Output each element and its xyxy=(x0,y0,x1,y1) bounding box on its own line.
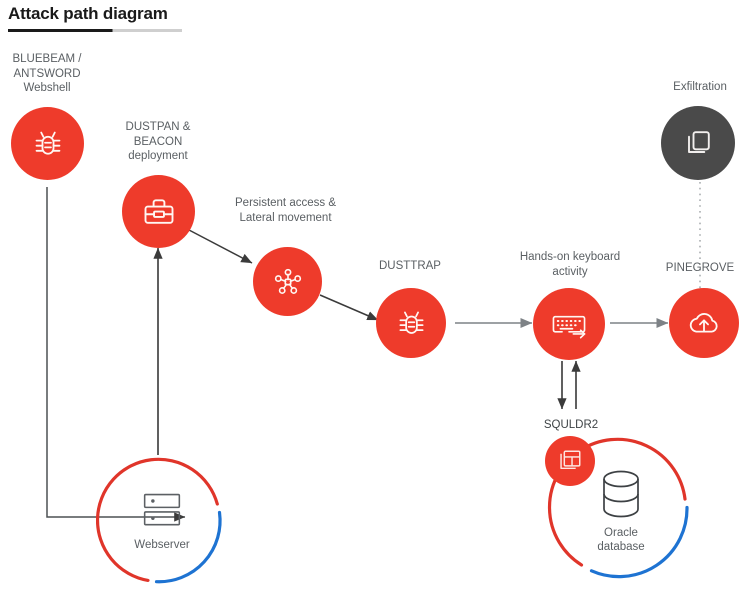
node-label-webshell: BLUEBEAM / ANTSWORD Webshell xyxy=(0,52,97,96)
edge-dustpan-to-lateral xyxy=(189,230,252,263)
cloud-upload-icon xyxy=(685,304,723,342)
layout-panels-icon xyxy=(557,448,583,474)
node-label-pinegrove: PINEGROVE xyxy=(648,261,751,276)
node-dustpan-beacon[interactable] xyxy=(122,175,195,248)
page-title: Attack path diagram xyxy=(8,4,168,24)
node-label-sqluldr2: SQULDR2 xyxy=(516,418,626,433)
node-hands-on-keyboard[interactable] xyxy=(533,288,605,360)
network-hub-icon xyxy=(271,265,305,299)
node-webshell[interactable] xyxy=(11,107,84,180)
node-sqluldr2[interactable] xyxy=(545,436,595,486)
node-label-oracle-database: Oracle database xyxy=(597,526,644,554)
database-cylinder-icon xyxy=(596,468,646,520)
keyboard-arrow-icon xyxy=(550,305,588,343)
attack-path-diagram-canvas: Attack path diagram BLUEBEA xyxy=(0,0,751,588)
title-underline-rule xyxy=(8,29,182,32)
toolbox-icon xyxy=(141,194,177,230)
bug-icon xyxy=(31,127,65,161)
server-icon xyxy=(140,490,184,532)
copy-documents-icon xyxy=(680,125,716,161)
node-label-webserver: Webserver xyxy=(134,538,189,552)
node-lateral-movement[interactable] xyxy=(253,247,322,316)
bug-icon xyxy=(395,307,428,340)
node-pinegrove[interactable] xyxy=(669,288,739,358)
edge-lateral-to-dusttrap xyxy=(320,295,378,320)
node-dusttrap[interactable] xyxy=(376,288,446,358)
node-label-dusttrap: DUSTTRAP xyxy=(360,259,460,274)
node-label-exfiltration: Exfiltration xyxy=(650,80,750,95)
node-label-hands-on-keyboard: Hands-on keyboard activity xyxy=(490,250,650,279)
node-exfiltration[interactable] xyxy=(661,106,735,180)
node-label-lateral-movement: Persistent access & Lateral movement xyxy=(208,196,363,225)
node-webserver[interactable]: Webserver xyxy=(96,455,228,587)
node-label-dustpan-beacon: DUSTPAN & BEACON deployment xyxy=(108,120,208,164)
